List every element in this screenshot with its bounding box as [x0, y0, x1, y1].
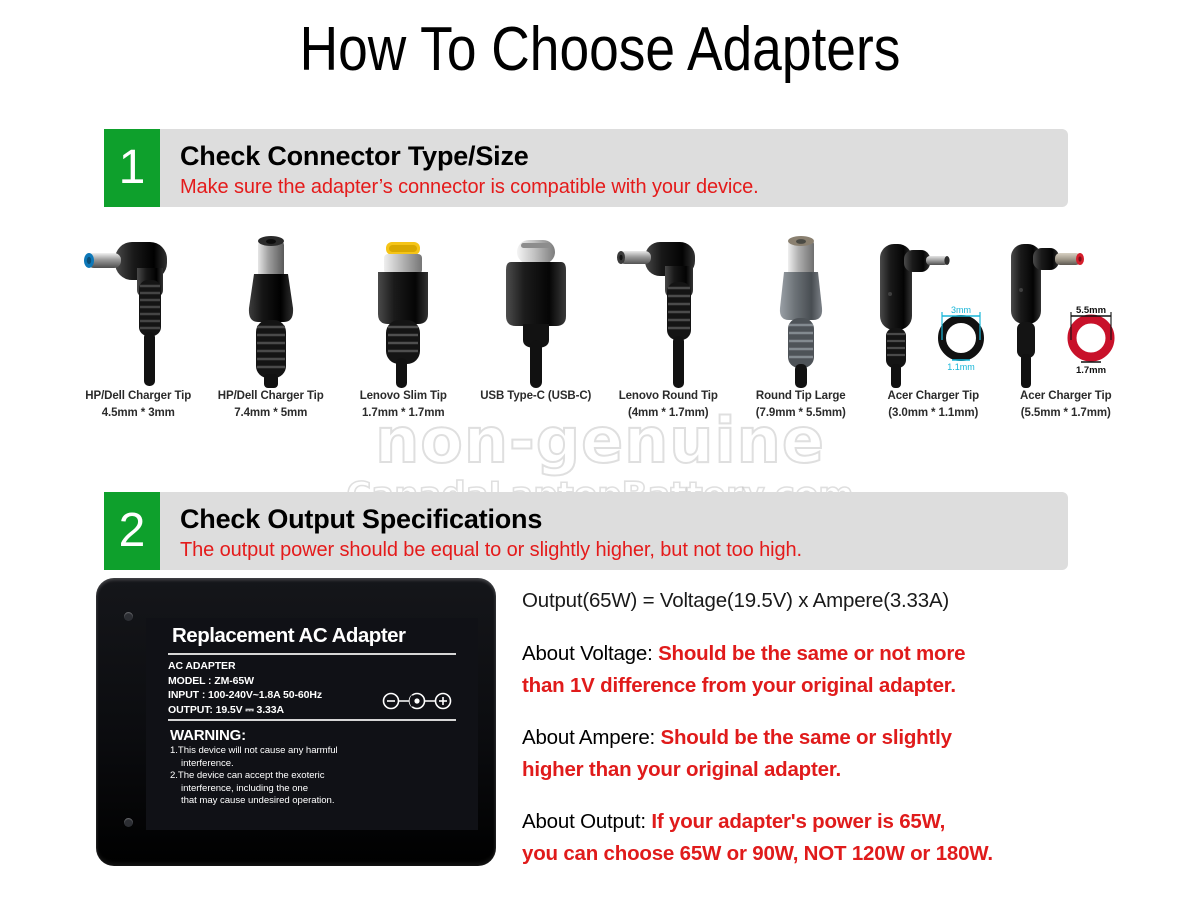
about-voltage-paragraph: About Voltage: Should be the same or not…: [522, 638, 1092, 702]
screw-icon: [124, 818, 133, 827]
warning-line-1a: 1.This device will not cause any harmful: [170, 745, 462, 758]
connector-item-hp-dell-74x5: HP/Dell Charger Tip 7.4mm * 5mm: [205, 228, 338, 438]
adapter-spec-line-4: OUTPUT: 19.5V ⎓ 3.33A: [168, 703, 380, 718]
about-output-red-2: you can choose 65W or 90W, NOT 120W or 1…: [522, 842, 993, 865]
about-ampere-red-2: higher than your original adapter.: [522, 758, 841, 781]
step-1-badge: 1: [104, 129, 160, 207]
ring-diagram-acer-55: 5.5mm 1.7mm: [1071, 305, 1111, 376]
about-output-paragraph: About Output: If your adapter's power is…: [522, 806, 1092, 870]
adapter-spec-row: AC ADAPTER MODEL : ZM-65W INPUT : 100-24…: [146, 659, 478, 717]
adapter-body: Replacement AC Adapter AC ADAPTER MODEL …: [96, 578, 496, 866]
adapter-spec-line-1: AC ADAPTER: [168, 659, 380, 674]
page-title: How To Choose Adapters: [84, 14, 1116, 86]
adapter-spec-line-3: INPUT : 100-240V~1.8A 50-60Hz: [168, 688, 380, 703]
straight-barrel-plug-silver-tip-icon: [205, 228, 338, 388]
step-1-text-group: Check Connector Type/Size Make sure the …: [160, 129, 759, 207]
connector-label-size: 1.7mm * 1.7mm: [362, 405, 444, 422]
connector-item-hp-dell-45x3: HP/Dell Charger Tip 4.5mm * 3mm: [72, 228, 205, 438]
connector-label-name: HP/Dell Charger Tip: [218, 388, 324, 405]
connector-label-name: Acer Charger Tip: [1020, 388, 1112, 405]
ring-inner-label: 1.7mm: [1076, 365, 1106, 376]
step-1-header: 1 Check Connector Type/Size Make sure th…: [104, 129, 1068, 207]
connector-label-name: Lenovo Round Tip: [619, 388, 718, 405]
ring-outer-label: 3mm: [951, 305, 971, 315]
adapter-label-title: Replacement AC Adapter: [146, 618, 478, 651]
warning-line-2b: interference, including the one: [170, 783, 462, 796]
right-angle-round-plug-icon: [602, 228, 735, 388]
gray-large-round-plug-icon: [735, 228, 868, 388]
step-1-subtitle: Make sure the adapter’s connector is com…: [180, 173, 759, 201]
step-2-heading: Check Output Specifications: [180, 502, 802, 536]
about-voltage-red-1: Should be the same or not more: [658, 642, 965, 665]
warning-line-2a: 2.The device can accept the exoteric: [170, 770, 462, 783]
ring-diagram-acer-30: 3mm 1.1mm: [942, 305, 980, 372]
output-spec-text-block: Output(65W) = Voltage(19.5V) x Ampere(3.…: [522, 586, 1092, 890]
right-angle-plug-blue-tip-icon: [72, 228, 205, 388]
connector-item-acer-55x17: 5.5mm 1.7mm Acer Charger Tip (5.5mm * 1.…: [1000, 228, 1133, 438]
about-output-red-1: If your adapter's power is 65W,: [651, 810, 945, 833]
about-ampere-red-1: Should be the same or slightly: [661, 726, 952, 749]
connector-item-lenovo-round: Lenovo Round Tip (4mm * 1.7mm): [602, 228, 735, 438]
step-2-header: 2 Check Output Specifications The output…: [104, 492, 1068, 570]
step-2-text-group: Check Output Specifications The output p…: [160, 492, 802, 570]
connector-label-name: Lenovo Slim Tip: [360, 388, 447, 405]
about-voltage-lead: About Voltage:: [522, 642, 658, 665]
center-negative-polarity-icon: [380, 691, 454, 716]
connector-label-name: Acer Charger Tip: [888, 388, 980, 405]
connector-label-size: 7.4mm * 5mm: [234, 405, 307, 422]
connector-item-acer-30x11: 3mm 1.1mm Acer Charger Tip (3.0mm * 1.1m…: [867, 228, 1000, 438]
ac-adapter-image: Replacement AC Adapter AC ADAPTER MODEL …: [96, 578, 496, 878]
about-output-lead: About Output:: [522, 810, 651, 833]
about-ampere-lead: About Ampere:: [522, 726, 661, 749]
step-2-badge: 2: [104, 492, 160, 570]
adapter-warning-title: WARNING:: [146, 725, 478, 745]
step-1-heading: Check Connector Type/Size: [180, 139, 759, 173]
connector-label-name: Round Tip Large: [756, 388, 846, 405]
connector-label-size: 4.5mm * 3mm: [102, 405, 175, 422]
connector-item-usb-c: USB Type-C (USB-C): [470, 228, 603, 438]
connector-gallery: HP/Dell Charger Tip 4.5mm * 3mm: [72, 228, 1132, 438]
acer-right-angle-plug-red-ring-icon: 5.5mm 1.7mm: [1000, 228, 1133, 388]
acer-right-angle-plug-black-ring-icon: 3mm 1.1mm: [867, 228, 1000, 388]
adapter-spec-line-2: MODEL : ZM-65W: [168, 674, 380, 689]
ring-outer-label: 5.5mm: [1076, 305, 1106, 316]
ring-inner-label: 1.1mm: [947, 362, 975, 372]
lenovo-slim-rectangular-yellow-tip-icon: [337, 228, 470, 388]
about-voltage-red-2: than 1V difference from your original ad…: [522, 674, 956, 697]
adapter-spec-lines: AC ADAPTER MODEL : ZM-65W INPUT : 100-24…: [168, 659, 380, 717]
usb-type-c-plug-icon: [470, 228, 603, 388]
screw-icon: [124, 612, 133, 621]
warning-line-2c: that may cause undesired operation.: [170, 795, 462, 808]
connector-label-size: (4mm * 1.7mm): [628, 405, 709, 422]
warning-line-1b: interference.: [170, 758, 462, 771]
divider: [168, 719, 456, 721]
output-equation: Output(65W) = Voltage(19.5V) x Ampere(3.…: [522, 586, 1092, 616]
divider: [168, 653, 456, 655]
adapter-label-plate: Replacement AC Adapter AC ADAPTER MODEL …: [146, 618, 478, 830]
connector-label-size: (7.9mm * 5.5mm): [756, 405, 846, 422]
step-2-subtitle: The output power should be equal to or s…: [180, 536, 802, 564]
adapter-warning-list: 1.This device will not cause any harmful…: [146, 745, 478, 808]
about-ampere-paragraph: About Ampere: Should be the same or slig…: [522, 722, 1092, 786]
connector-label-size: (5.5mm * 1.7mm): [1021, 405, 1111, 422]
connector-label-name: HP/Dell Charger Tip: [85, 388, 191, 405]
connector-item-lenovo-slim: Lenovo Slim Tip 1.7mm * 1.7mm: [337, 228, 470, 438]
connector-item-round-large: Round Tip Large (7.9mm * 5.5mm): [735, 228, 868, 438]
connector-label-size: (3.0mm * 1.1mm): [888, 405, 978, 422]
connector-label-name: USB Type-C (USB-C): [480, 388, 591, 405]
